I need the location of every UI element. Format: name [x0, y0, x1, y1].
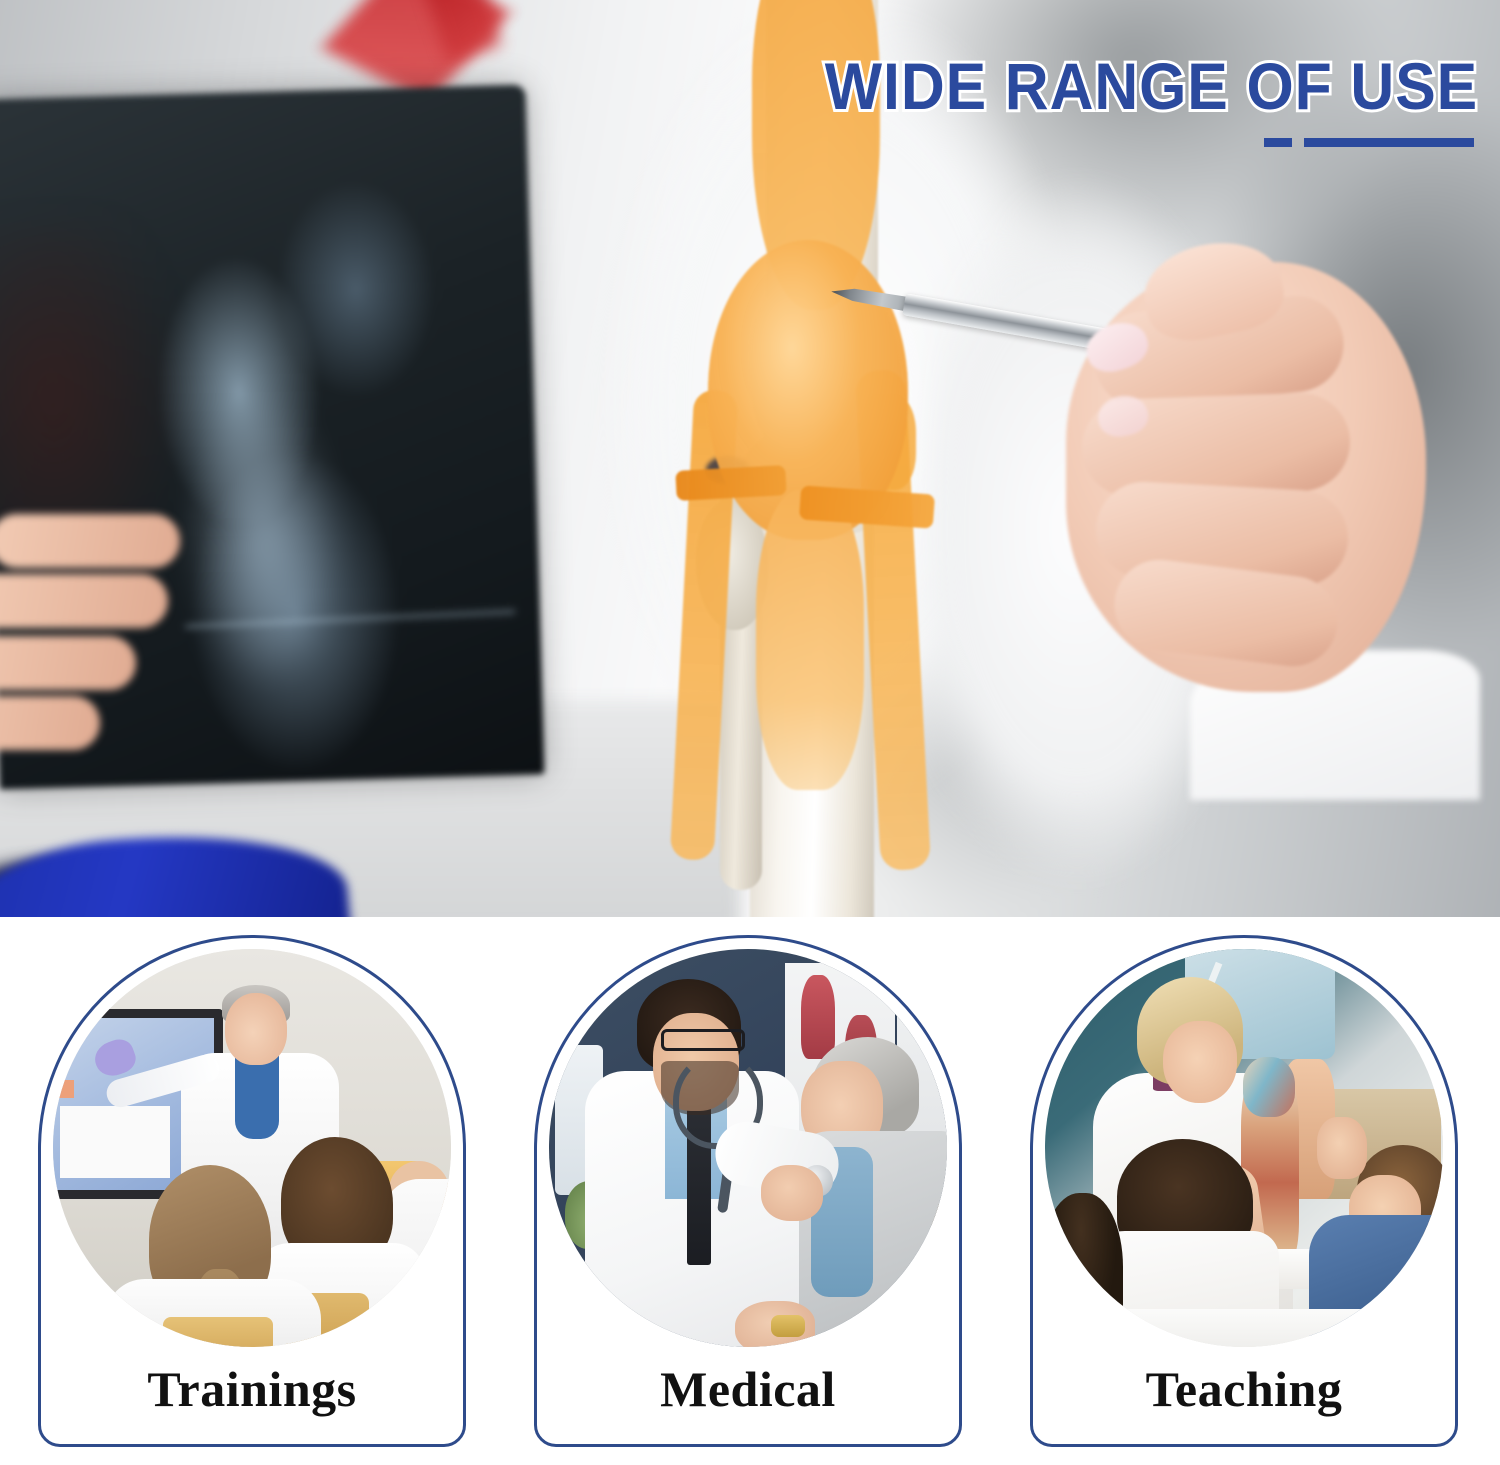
- use-case-card-teaching[interactable]: Teaching: [1030, 935, 1458, 1447]
- hero-banner: WIDE RANGE OF USE: [0, 0, 1500, 917]
- title-underline: [768, 138, 1478, 147]
- use-case-cards-section: Trainings: [0, 917, 1500, 1465]
- patellar-ligament: [756, 490, 864, 790]
- underline-dash: [1264, 138, 1292, 147]
- use-case-card-trainings[interactable]: Trainings: [38, 935, 466, 1447]
- underline-bar: [1304, 138, 1474, 147]
- use-case-card-medical[interactable]: Medical: [534, 935, 962, 1447]
- ligament-band-left: [675, 465, 786, 501]
- medical-photo: [549, 949, 947, 1347]
- teaching-photo: [1045, 949, 1443, 1347]
- card-label-teaching: Teaching: [1033, 1360, 1455, 1418]
- hero-title-block: WIDE RANGE OF USE: [768, 48, 1478, 147]
- hand-holding-xray: [0, 500, 200, 800]
- trainings-photo: [53, 949, 451, 1347]
- card-label-medical: Medical: [537, 1360, 959, 1418]
- card-label-trainings: Trainings: [41, 1360, 463, 1418]
- eyeglasses-icon: [661, 1029, 745, 1051]
- wristwatch-icon: [771, 1315, 805, 1337]
- hand-holding-pen: [1040, 250, 1470, 750]
- page-title: WIDE RANGE OF USE: [825, 48, 1478, 124]
- raised-hand-icon: [1317, 1117, 1367, 1179]
